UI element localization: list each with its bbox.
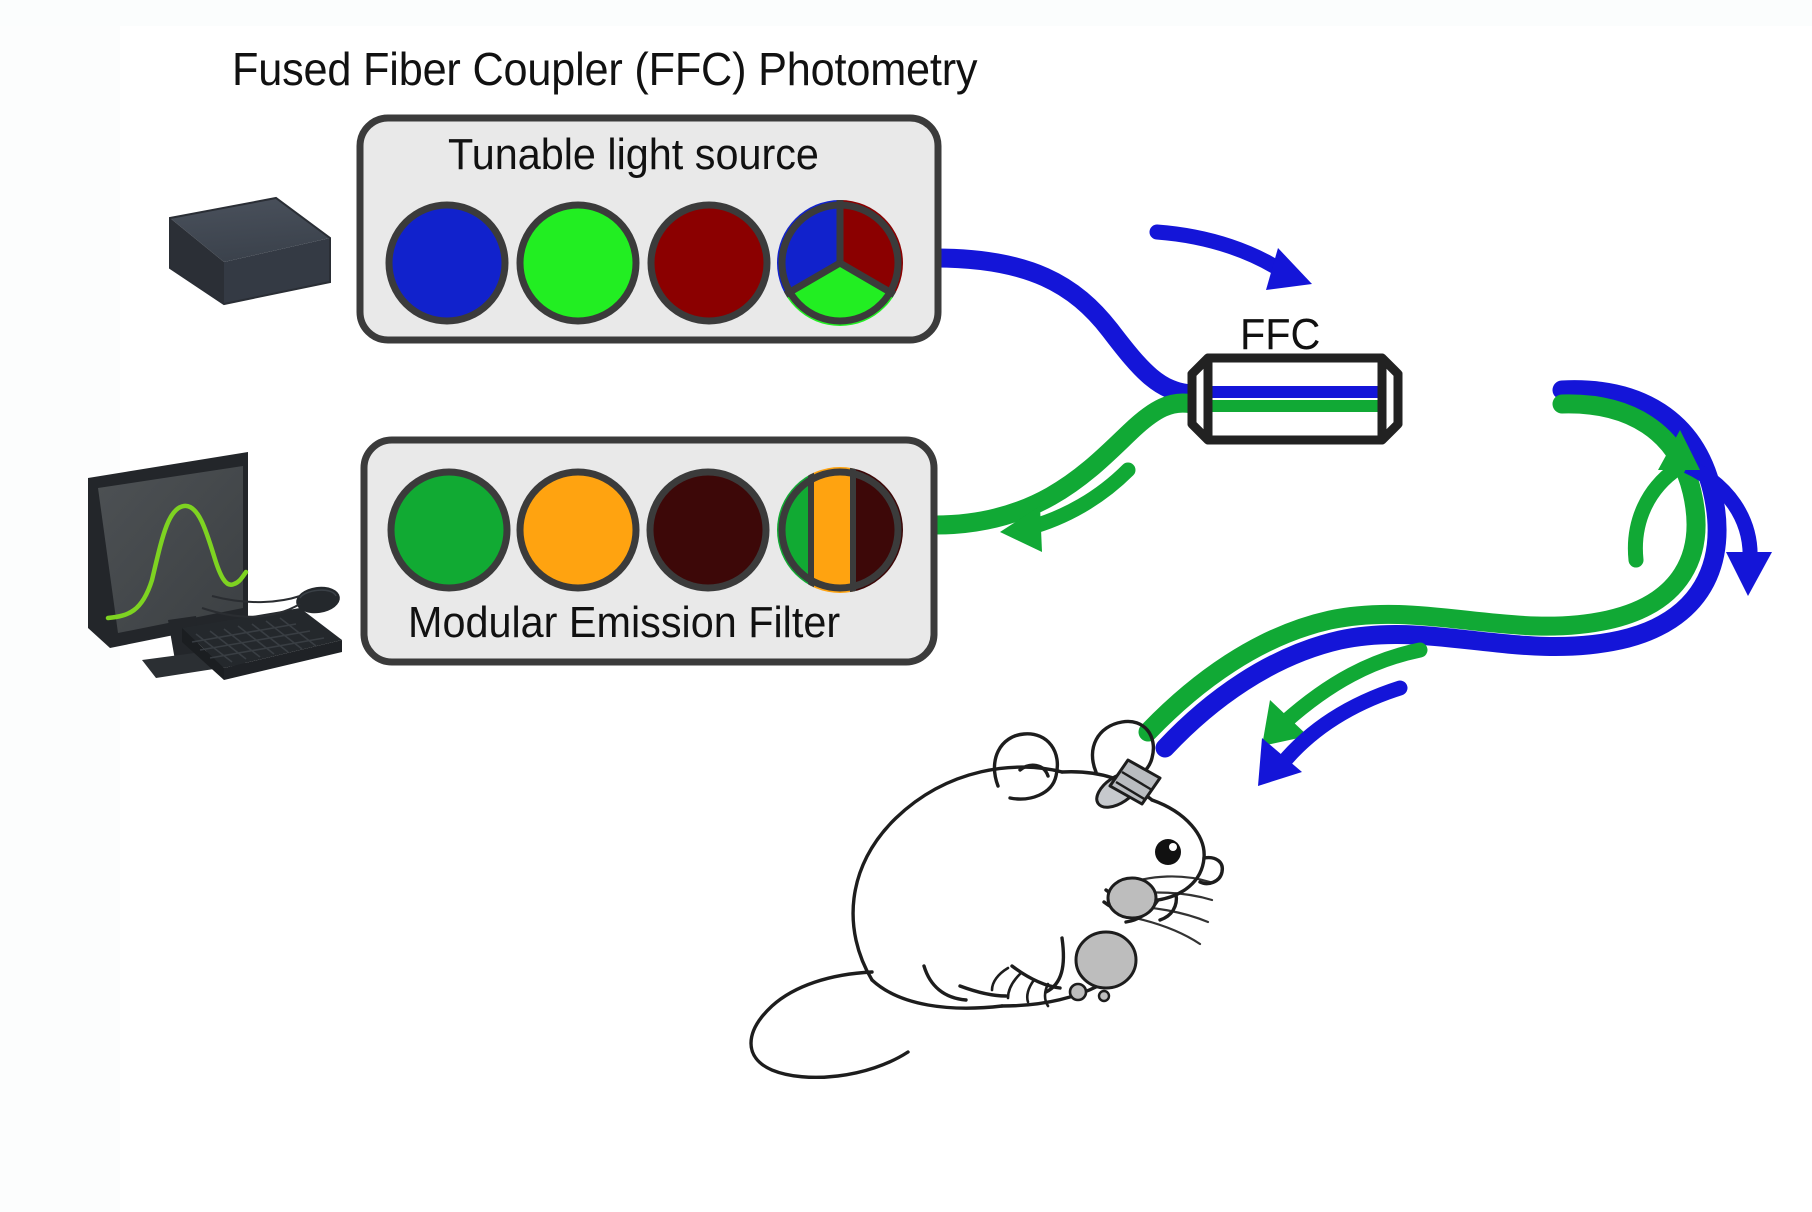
far-red-emission-filter[interactable] bbox=[650, 472, 766, 588]
diagram-scene bbox=[0, 0, 1812, 1212]
green-emission-filter[interactable] bbox=[391, 472, 507, 588]
green-led-filter[interactable] bbox=[520, 205, 636, 321]
ffc-label: FFC bbox=[1240, 310, 1320, 360]
blue-led-filter[interactable] bbox=[389, 205, 505, 321]
modular-emission-filter-title: Modular Emission Filter bbox=[408, 598, 840, 648]
page-title: Fused Fiber Coupler (FFC) Photometry bbox=[232, 42, 977, 96]
orange-emission-filter[interactable] bbox=[520, 472, 636, 588]
ffc-coupler bbox=[1192, 358, 1398, 440]
tunable-light-source-title: Tunable light source bbox=[448, 130, 819, 180]
figure-canvas: Fused Fiber Coupler (FFC) Photometry Tun… bbox=[0, 0, 1812, 1212]
deep-red-led-filter[interactable] bbox=[651, 205, 767, 321]
